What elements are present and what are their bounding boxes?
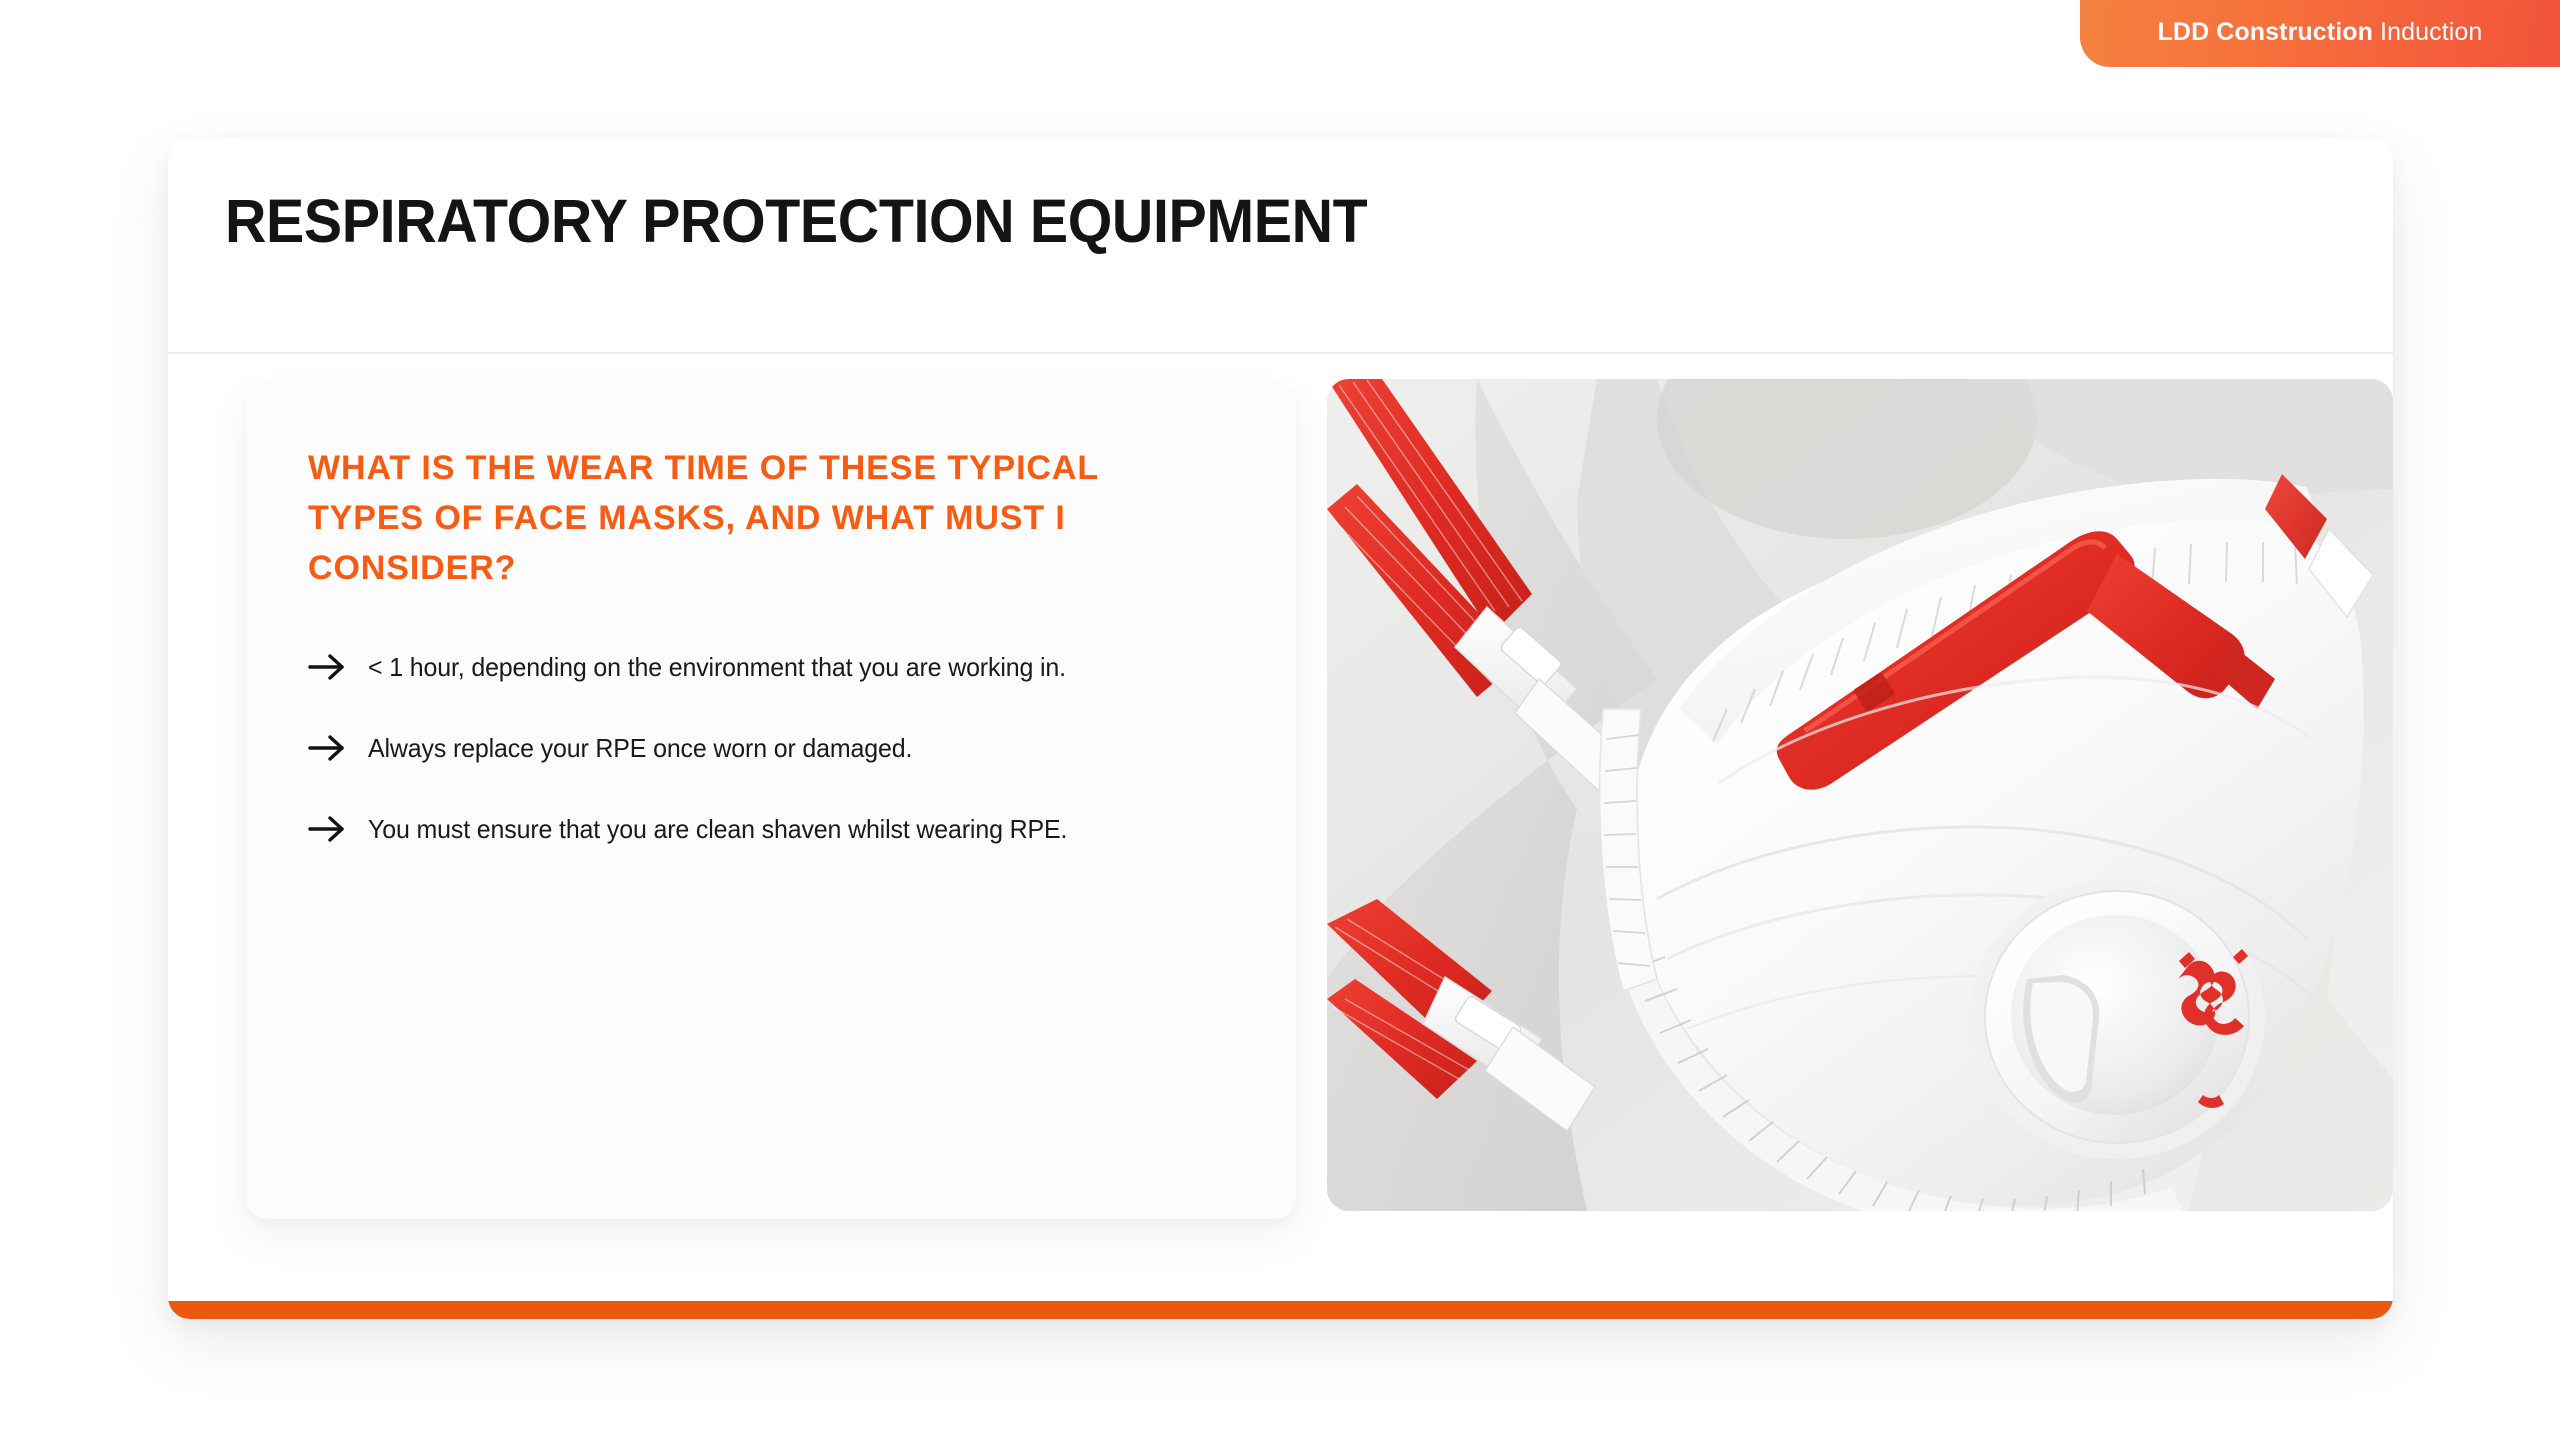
arrow-right-icon: [308, 814, 354, 844]
slide-body: WHAT IS THE WEAR TIME OF THESE TYPICAL T…: [168, 354, 2393, 1319]
question-heading: WHAT IS THE WEAR TIME OF THESE TYPICAL T…: [308, 444, 1168, 594]
list-item: Always replace your RPE once worn or dam…: [308, 731, 1234, 766]
slide-title-area: RESPIRATORY PROTECTION EQUIPMENT: [168, 139, 2393, 352]
arrow-right-icon: [308, 733, 354, 763]
brand-name: LDD Construction: [2158, 18, 2373, 46]
respirator-photo-illustration: [1327, 379, 2393, 1211]
brand-suffix: Induction: [2373, 18, 2482, 46]
list-item-label: Always replace your RPE once worn or dam…: [368, 731, 912, 766]
arrow-right-icon: [308, 652, 354, 682]
respirator-photo: [1327, 379, 2393, 1211]
accent-bar: [168, 1301, 2393, 1319]
header-badge-text: LDD Construction Induction: [2158, 18, 2483, 47]
list-item: You must ensure that you are clean shave…: [308, 812, 1234, 847]
bullet-list: < 1 hour, depending on the environment t…: [308, 650, 1234, 847]
list-item-label: < 1 hour, depending on the environment t…: [368, 650, 1066, 685]
question-panel: WHAT IS THE WEAR TIME OF THESE TYPICAL T…: [246, 384, 1296, 1219]
list-item-label: You must ensure that you are clean shave…: [368, 812, 1067, 847]
slide-card: RESPIRATORY PROTECTION EQUIPMENT WHAT IS…: [168, 139, 2393, 1319]
page-title: RESPIRATORY PROTECTION EQUIPMENT: [225, 191, 1367, 252]
list-item: < 1 hour, depending on the environment t…: [308, 650, 1234, 685]
header-badge: LDD Construction Induction: [2080, 0, 2560, 67]
